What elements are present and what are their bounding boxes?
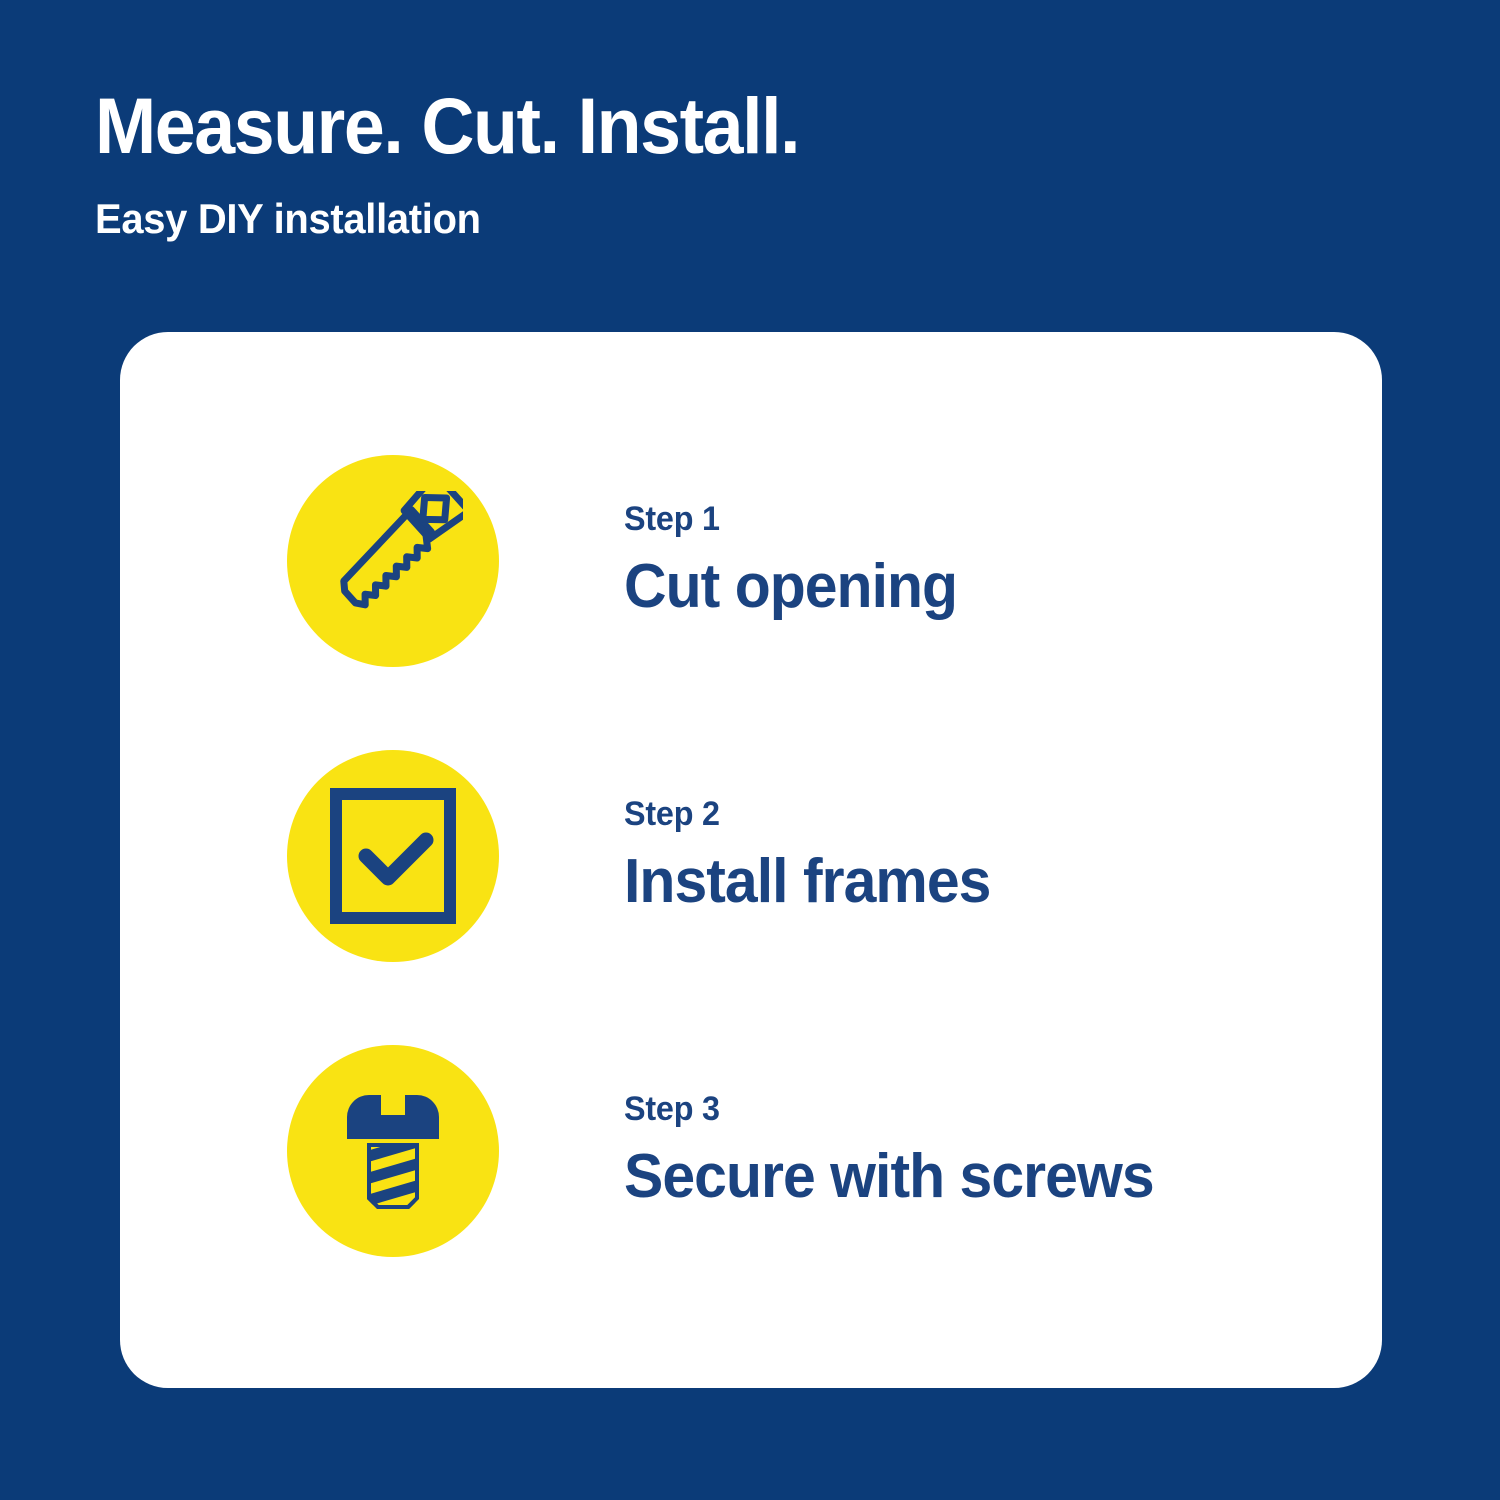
screw-icon — [333, 1081, 453, 1221]
step-1-icon-badge — [287, 455, 499, 667]
step-1-text: Step 1 Cut opening — [624, 501, 975, 622]
steps-card: Step 1 Cut opening Step 2 Install frames — [120, 332, 1382, 1388]
step-3-icon-badge — [287, 1045, 499, 1257]
step-item-2: Step 2 Install frames — [287, 750, 1337, 962]
step-2-icon-badge — [287, 750, 499, 962]
step-1-title: Cut opening — [624, 538, 957, 621]
header: Measure. Cut. Install. Easy DIY installa… — [95, 86, 1395, 243]
page-subtitle: Easy DIY installation — [95, 165, 1330, 243]
handsaw-icon — [323, 491, 463, 631]
step-2-label: Step 2 — [624, 796, 990, 833]
step-1-label: Step 1 — [624, 501, 957, 538]
framed-checkbox-icon — [330, 788, 456, 924]
step-3-label: Step 3 — [624, 1091, 1154, 1128]
step-item-3: Step 3 Secure with screws — [287, 1045, 1337, 1257]
page-title: Measure. Cut. Install. — [95, 86, 1304, 165]
step-2-text: Step 2 Install frames — [624, 796, 1010, 917]
step-item-1: Step 1 Cut opening — [287, 455, 1337, 667]
step-3-title: Secure with screws — [624, 1128, 1154, 1211]
step-3-text: Step 3 Secure with screws — [624, 1091, 1182, 1212]
step-2-title: Install frames — [624, 833, 990, 916]
